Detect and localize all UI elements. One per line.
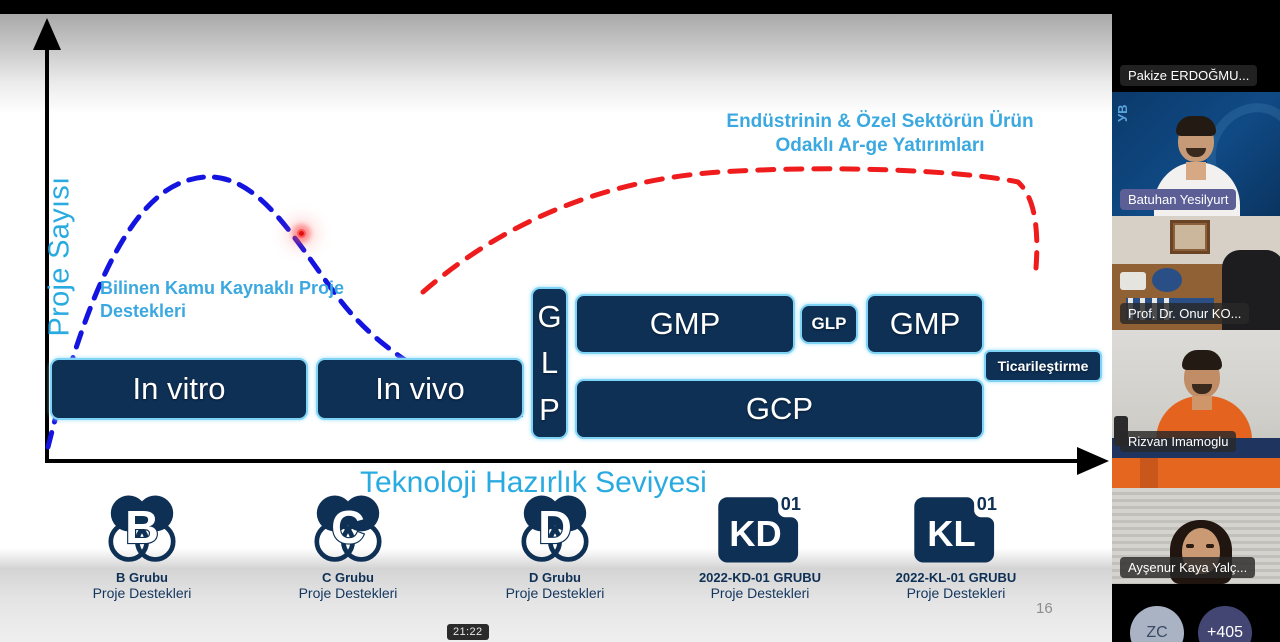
program-logo-c: CC GrubuProje Destekleri (258, 490, 438, 601)
annotation-industry-investment: Endüstrinin & Özel Sektörün Ürün Odaklı … (700, 110, 1060, 158)
program-logo-kd: KD012022-KD-01 GRUBUProje Destekleri (670, 490, 850, 601)
glp-letter-p: P (539, 394, 560, 425)
slide-top-gradient (0, 14, 1112, 114)
svg-text:01: 01 (781, 494, 801, 514)
program-logo-row: BB GrubuProje DestekleriCC GrubuProje De… (0, 490, 1112, 630)
slide-top-black-bar (0, 0, 1112, 14)
program-subtitle: Proje Destekleri (52, 585, 232, 601)
participant-overflow-row[interactable]: ZC +405 (1112, 584, 1280, 642)
phase-box-gmp-1: GMP (575, 294, 795, 354)
glp-letter-l: L (541, 347, 558, 378)
tag-icon: KD01 (712, 490, 808, 568)
program-mark-icon: B (52, 490, 232, 568)
participant-name-aysenur: Ayşenur Kaya Yalç... (1120, 557, 1255, 578)
program-mark-icon: D (465, 490, 645, 568)
glp-letter-g: G (537, 301, 561, 332)
shared-slide: Proje Sayısı Teknoloji Hazırlık Seviyesi… (0, 0, 1112, 642)
program-logo-d: DD GrubuProje Destekleri (465, 490, 645, 601)
annotation-public-funding: Bilinen Kamu Kaynaklı Proje Destekleri (100, 277, 390, 322)
program-logo-kl: KL012022-KL-01 GRUBUProje Destekleri (866, 490, 1046, 601)
participant-tile-onur[interactable]: Prof. Dr. Onur KO... (1112, 216, 1280, 330)
phase-box-glp-vertical: G L P (531, 287, 568, 439)
program-title: 2022-KD-01 GRUBU (670, 570, 850, 585)
participant-name-pakize: Pakize ERDOĞMU... (1120, 65, 1257, 86)
svg-text:KL: KL (927, 513, 975, 554)
svg-text:D: D (538, 501, 572, 553)
laser-pointer-dot (297, 229, 306, 238)
svg-text:B: B (125, 501, 159, 553)
virtual-background-logo: УB (1116, 105, 1130, 122)
participant-name-onur: Prof. Dr. Onur KO... (1120, 303, 1249, 324)
participant-tile-pakize[interactable]: Pakize ERDOĞMU... (1112, 0, 1280, 92)
clover-icon: C (300, 490, 396, 568)
screen-share-meeting-window: Proje Sayısı Teknoloji Hazırlık Seviyesi… (0, 0, 1280, 642)
program-mark-icon: KL01 (866, 490, 1046, 568)
program-subtitle: Proje Destekleri (465, 585, 645, 601)
program-subtitle: Proje Destekleri (866, 585, 1046, 601)
svg-text:01: 01 (977, 494, 997, 514)
avatar-zc[interactable]: ZC (1130, 606, 1184, 642)
program-subtitle: Proje Destekleri (670, 585, 850, 601)
participant-strip[interactable]: Pakize ERDOĞMU... УB Batuhan Yesilyurt (1112, 0, 1280, 642)
participant-tile-aysenur[interactable]: Ayşenur Kaya Yalç... (1112, 458, 1280, 584)
svg-text:KD: KD (729, 513, 781, 554)
y-axis-label: Proje Sayısı (44, 142, 77, 372)
program-title: D Grubu (465, 570, 645, 585)
participant-tile-batuhan[interactable]: УB Batuhan Yesilyurt (1112, 92, 1280, 216)
participant-tile-rizvan[interactable]: Rizvan Imamoglu (1112, 330, 1280, 458)
program-mark-icon: C (258, 490, 438, 568)
phase-box-gmp-2: GMP (866, 294, 984, 354)
participant-name-batuhan: Batuhan Yesilyurt (1120, 189, 1236, 210)
program-logo-b: BB GrubuProje Destekleri (52, 490, 232, 601)
tag-icon: KL01 (908, 490, 1004, 568)
phase-box-glp-small: GLP (800, 304, 858, 344)
program-mark-icon: KD01 (670, 490, 850, 568)
participant-name-rizvan: Rizvan Imamoglu (1120, 431, 1236, 452)
clover-icon: B (94, 490, 190, 568)
program-title: C Grubu (258, 570, 438, 585)
phase-box-gcp: GCP (575, 379, 984, 439)
program-subtitle: Proje Destekleri (258, 585, 438, 601)
svg-text:C: C (331, 501, 365, 553)
slide-page-number: 16 (1036, 600, 1053, 617)
program-title: 2022-KL-01 GRUBU (866, 570, 1046, 585)
phase-box-commercialization: Ticarileştirme (984, 350, 1102, 382)
phase-box-in-vitro: In vitro (50, 358, 308, 420)
curve-industry-investment (423, 169, 1037, 292)
avatar-overflow-count[interactable]: +405 (1198, 606, 1252, 642)
program-title: B Grubu (52, 570, 232, 585)
clover-icon: D (507, 490, 603, 568)
video-timestamp: 21:22 (447, 624, 489, 640)
phase-box-in-vivo: In vivo (316, 358, 524, 420)
